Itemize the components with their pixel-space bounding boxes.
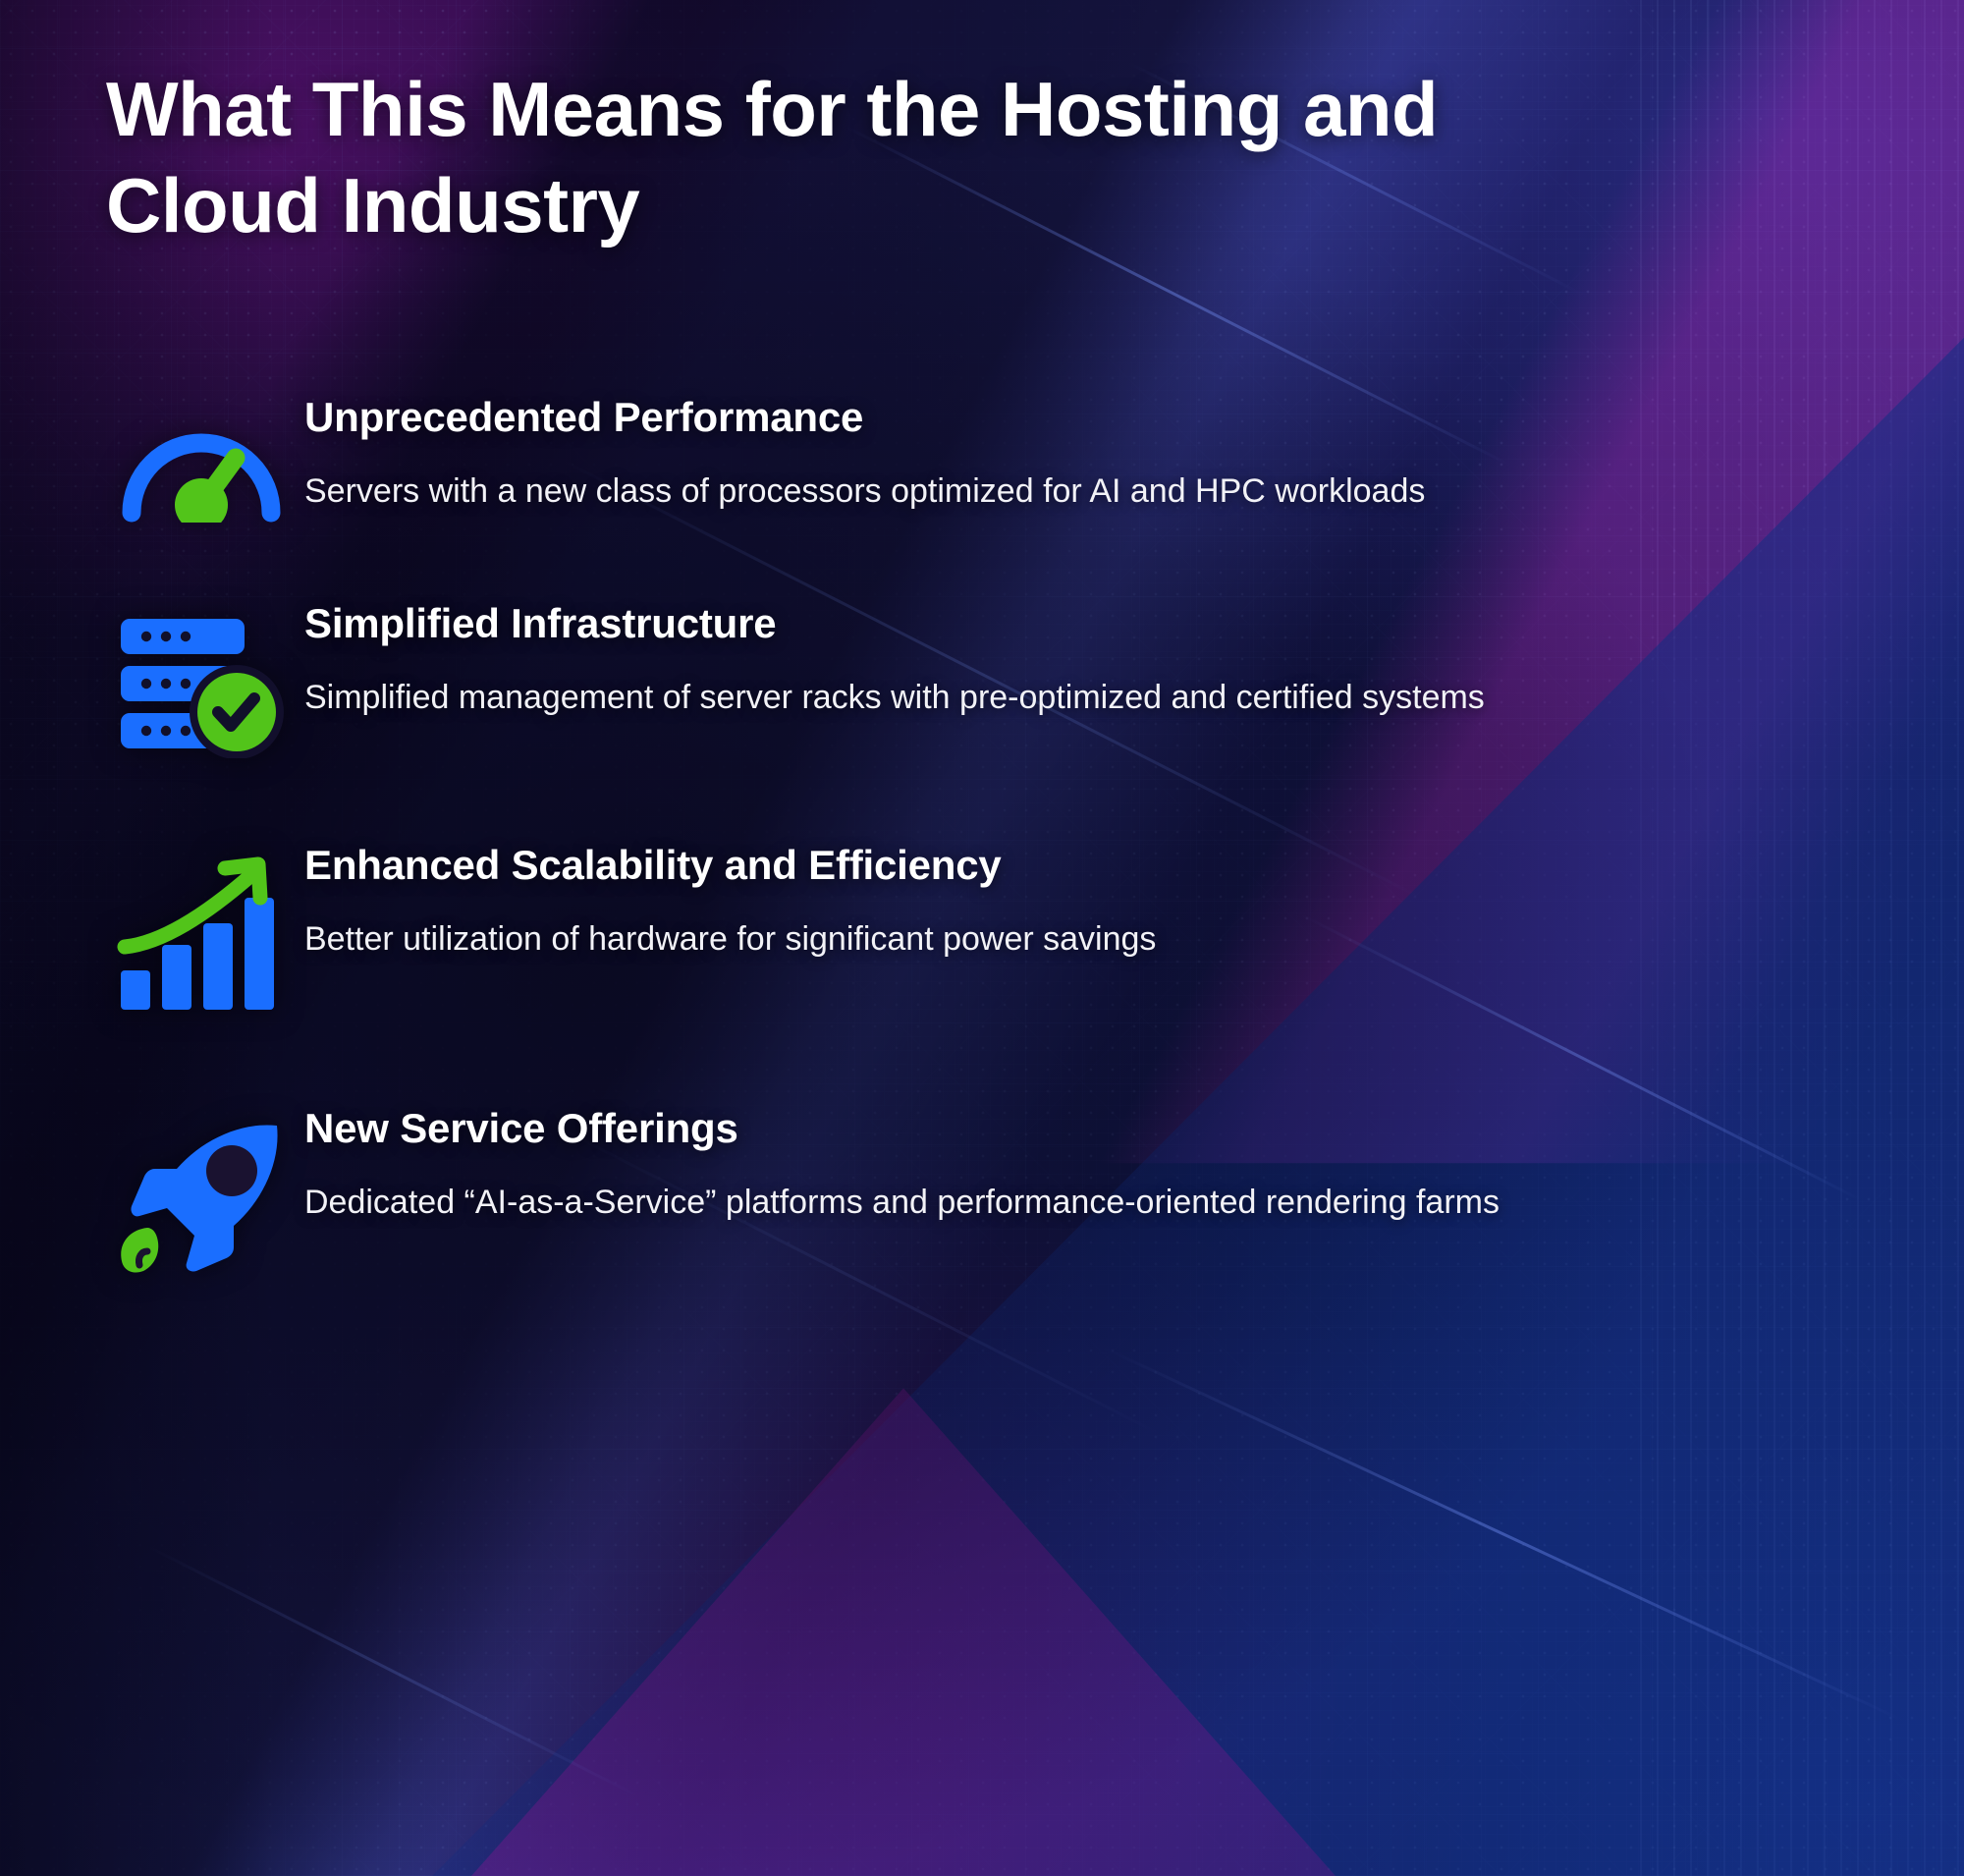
page-title-line-2: Cloud Industry: [106, 162, 639, 248]
page-title: What This Means for the Hosting and Clou…: [106, 61, 1834, 254]
feature-item: Unprecedented Performance Servers with a…: [0, 393, 1964, 523]
feature-text-block: Enhanced Scalability and Efficiency Bett…: [304, 841, 1738, 963]
feature-title: New Service Offerings: [304, 1104, 1620, 1153]
feature-item: Simplified Infrastructure Simplified man…: [0, 599, 1964, 758]
feature-list: Unprecedented Performance Servers with a…: [0, 393, 1964, 1275]
feature-item: New Service Offerings Dedicated “AI-as-a…: [0, 1104, 1964, 1275]
server-rack-check-icon: [115, 613, 288, 758]
page-title-line-1: What This Means for the Hosting and: [106, 66, 1438, 152]
feature-icon-slot: [98, 841, 304, 1014]
rocket-icon: [112, 1118, 291, 1275]
content-area: What This Means for the Hosting and Clou…: [0, 0, 1964, 1876]
feature-icon-slot: [98, 1104, 304, 1275]
infographic-canvas: What This Means for the Hosting and Clou…: [0, 0, 1964, 1876]
feature-text-block: New Service Offerings Dedicated “AI-as-a…: [304, 1104, 1738, 1226]
feature-text-block: Simplified Infrastructure Simplified man…: [304, 599, 1738, 721]
growth-bar-chart-icon: [115, 855, 288, 1014]
feature-icon-slot: [98, 393, 304, 523]
feature-description: Better utilization of hardware for signi…: [304, 915, 1620, 963]
feature-title: Enhanced Scalability and Efficiency: [304, 841, 1620, 890]
feature-title: Simplified Infrastructure: [304, 599, 1620, 648]
feature-icon-slot: [98, 599, 304, 758]
feature-description: Dedicated “AI-as-a-Service” platforms an…: [304, 1179, 1620, 1226]
feature-title: Unprecedented Performance: [304, 393, 1620, 442]
feature-item: Enhanced Scalability and Efficiency Bett…: [0, 841, 1964, 1014]
feature-text-block: Unprecedented Performance Servers with a…: [304, 393, 1738, 515]
feature-description: Simplified management of server racks wi…: [304, 674, 1620, 721]
feature-description: Servers with a new class of processors o…: [304, 468, 1620, 515]
speedometer-icon: [118, 407, 285, 523]
